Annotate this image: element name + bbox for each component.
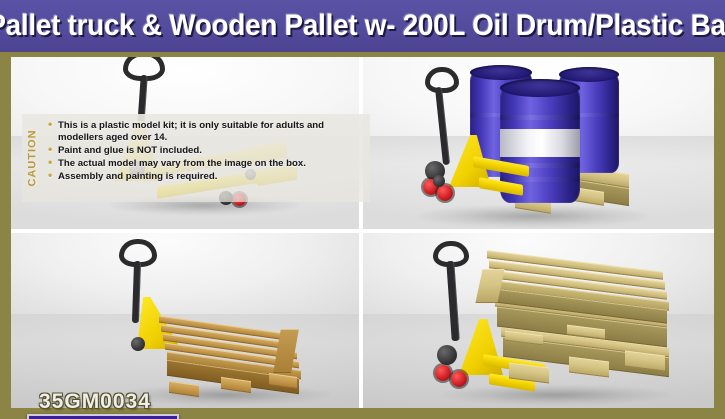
- photo-panel-top-right: [363, 57, 714, 229]
- barrel-rear-right-lid: [559, 67, 619, 82]
- ground-shadow: [441, 385, 671, 405]
- caution-item: This is a plastic model kit; it is only …: [46, 120, 364, 143]
- title-bar: 5t Pallet truck & Wooden Pallet w- 200L …: [0, 0, 725, 52]
- photo-grid: CAUTION This is a plastic model kit; it …: [11, 57, 714, 408]
- gecko-icon: [29, 415, 83, 419]
- barrel-rib: [500, 115, 580, 120]
- load-wheel-c: [433, 175, 445, 187]
- caution-list: This is a plastic model kit; it is only …: [44, 114, 370, 184]
- product-code: 35GM0034: [39, 390, 151, 414]
- brand-logo: Gecko Models: [27, 414, 179, 419]
- load-wheel-b: [437, 185, 453, 201]
- photo-panel-bottom-left: [11, 233, 359, 408]
- barrel-rib: [500, 177, 580, 182]
- page-title: 5t Pallet truck & Wooden Pallet w- 200L …: [0, 11, 725, 41]
- caution-block: CAUTION This is a plastic model kit; it …: [22, 114, 370, 202]
- photo-panel-bottom-right: [363, 233, 714, 408]
- caution-label-text: CAUTION: [27, 129, 39, 186]
- load-wheel-a: [435, 365, 451, 381]
- caution-item: Assembly and painting is required.: [46, 171, 364, 183]
- barrel-front-lid: [500, 79, 580, 97]
- steer-wheel: [131, 337, 145, 351]
- load-wheel-b: [451, 371, 467, 387]
- barrel-rear-left-lid: [470, 65, 532, 80]
- caution-item: Paint and glue is NOT included.: [46, 145, 364, 157]
- caution-item: The actual model may vary from the image…: [46, 158, 364, 170]
- steer-wheel-hub: [437, 345, 457, 365]
- barrel-front-label-band: [500, 129, 580, 157]
- caution-label-vertical: CAUTION: [22, 114, 44, 202]
- package-artwork: 5t Pallet truck & Wooden Pallet w- 200L …: [0, 0, 725, 419]
